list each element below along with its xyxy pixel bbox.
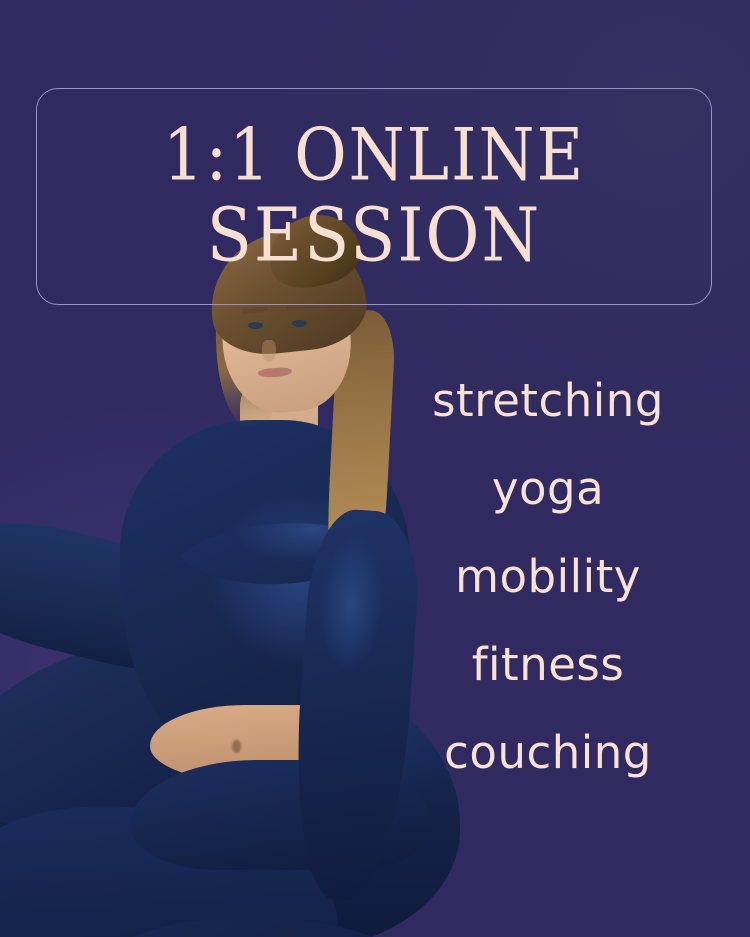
navel — [232, 740, 241, 753]
promo-poster: 1:1 ONLINE SESSION stretching yoga mobil… — [0, 0, 750, 937]
headline-line-2: SESSION — [207, 200, 542, 272]
service-item-mobility: mobility — [455, 554, 641, 599]
service-item-fitness: fitness — [472, 642, 625, 687]
service-item-couching: couching — [444, 730, 652, 775]
right-eye — [292, 320, 307, 327]
service-item-stretching: stretching — [432, 378, 664, 423]
service-list: stretching yoga mobility fitness couchin… — [400, 378, 696, 775]
service-item-yoga: yoga — [492, 466, 604, 511]
headline-block: 1:1 ONLINE SESSION — [36, 88, 712, 305]
left-eye — [248, 322, 263, 329]
headline-line-1: 1:1 ONLINE — [163, 121, 585, 191]
nose — [262, 340, 276, 362]
